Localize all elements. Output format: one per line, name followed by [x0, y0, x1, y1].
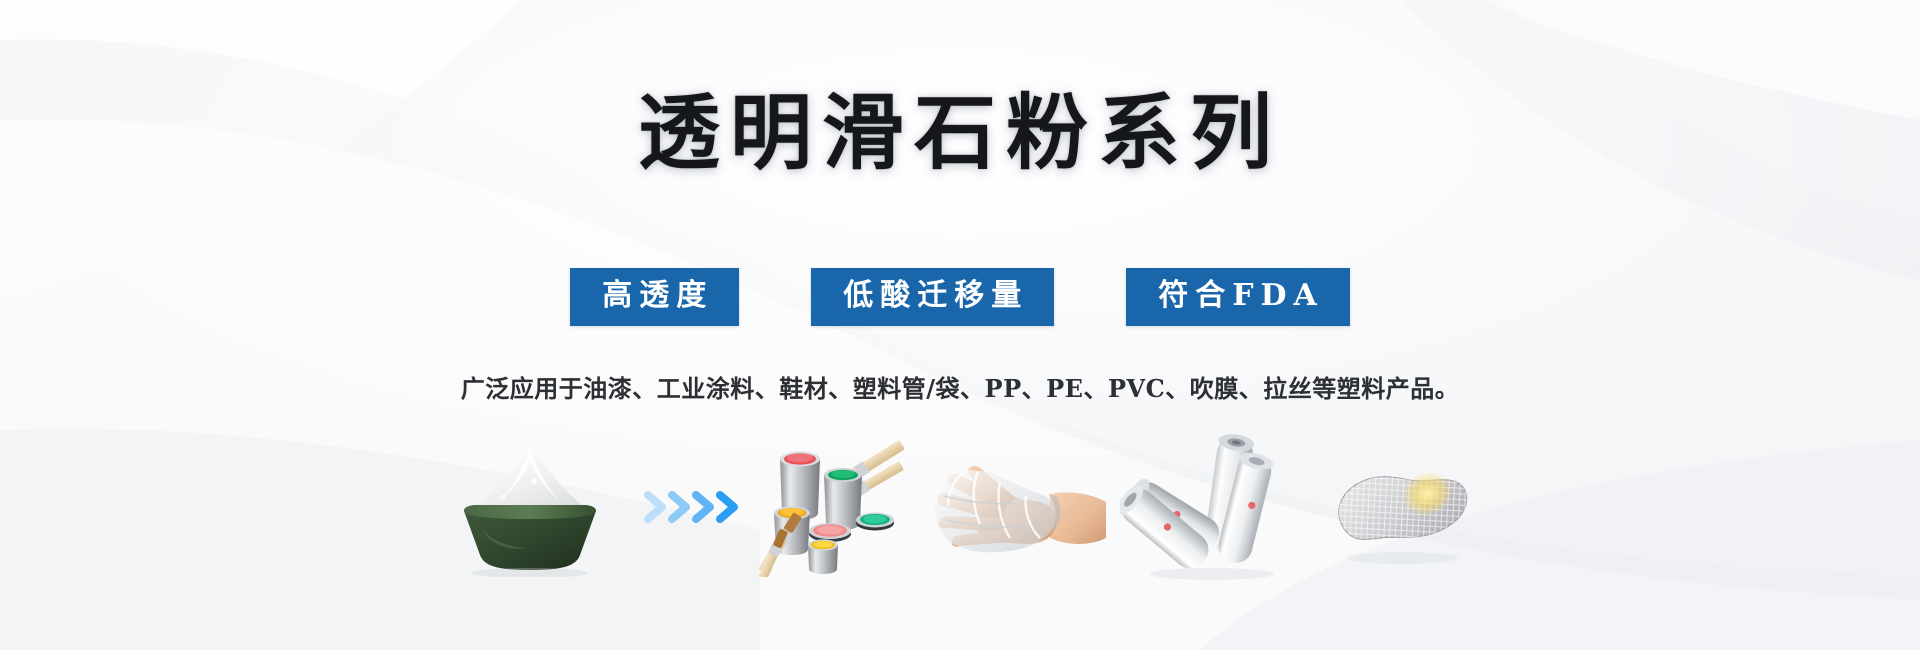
badge-fda-compliant[interactable]: 符合FDA [1126, 268, 1350, 326]
product-banner: 透明滑石粉系列 高透度 低酸迁移量 符合FDA 广泛应用于油漆、工业涂料、鞋材、… [0, 0, 1920, 650]
banner-title: 透明滑石粉系列 [0, 84, 1920, 182]
application-image-strip [0, 432, 1920, 582]
banner-description: 广泛应用于油漆、工业涂料、鞋材、塑料管/袋、PP、PE、PVC、吹膜、拉丝等塑料… [0, 372, 1920, 406]
badge-high-transparency[interactable]: 高透度 [570, 268, 739, 326]
paint-cans-icon [758, 437, 923, 577]
chevron-arrows [635, 432, 755, 582]
shoe-sole [1305, 432, 1495, 582]
plastic-film-rolls [1115, 432, 1305, 582]
talc-powder-bowl-icon [430, 437, 630, 577]
shoe-sole-icon [1310, 442, 1490, 572]
talc-powder-bowl [425, 432, 635, 582]
badge-low-acid-migration[interactable]: 低酸迁移量 [811, 268, 1054, 326]
chevron-right-icon [640, 483, 750, 531]
paint-cans [755, 432, 925, 582]
plastic-glove-hand [925, 432, 1115, 582]
plastic-glove-hand-icon [930, 442, 1110, 572]
feature-badge-row: 高透度 低酸迁移量 符合FDA [0, 268, 1920, 326]
plastic-film-rolls-icon [1120, 432, 1300, 582]
